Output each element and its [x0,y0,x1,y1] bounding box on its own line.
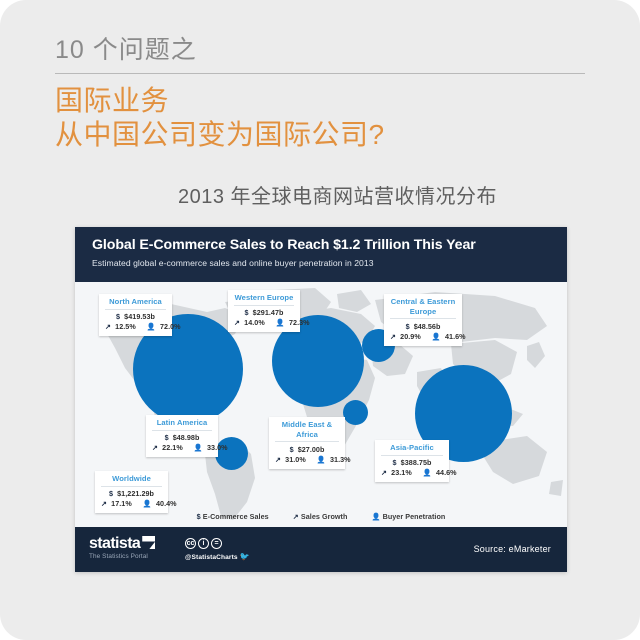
callout-sales-value: $48.98b [173,433,200,442]
callout-penetration-value: 33.0% [207,443,228,452]
slide-title: 国际业务 从中国公司变为国际公司? [55,84,385,152]
callout-growth-value: 31.0% [285,455,306,464]
world-bubble-map: North America $ $419.53b ↗ 12.5% 👤 72.0%… [75,282,567,527]
callout-sales-row: $ $27.00b [275,445,339,455]
callout-stats-row: ↗ 12.5% 👤 72.0% [105,322,166,332]
person-icon: 👤 [143,499,152,508]
dollar-icon: $ [116,312,120,321]
callout-sales-value: $388.75b [401,458,432,467]
legend-item-penetration: 👤 Buyer Penetration [372,512,446,521]
legend-label-growth: Sales Growth [301,512,348,521]
cc-icon: cc [185,538,196,549]
callout-middle-east-africa[interactable]: Middle East & Africa $ $27.00b ↗ 31.0% 👤… [269,417,345,469]
dollar-icon: $ [165,433,169,442]
bubble-latin-america [215,437,248,470]
infographic-header: Global E-Commerce Sales to Reach $1.2 Tr… [75,227,567,282]
callout-title: Latin America [152,418,212,428]
callout-north-america[interactable]: North America $ $419.53b ↗ 12.5% 👤 72.0% [99,294,172,336]
person-icon: 👤 [317,455,326,464]
callout-stats-row: ↗ 14.0% 👤 72.3% [234,318,294,328]
callout-sales-value: $419.53b [124,312,155,321]
statista-mark-icon [142,536,155,549]
callout-asia-pacific[interactable]: Asia-Pacific $ $388.75b ↗ 23.1% 👤 44.6% [375,440,449,482]
callout-title: Asia-Pacific [381,443,443,453]
person-icon: 👤 [276,318,285,327]
map-legend: $ E-Commerce Sales ↗ Sales Growth 👤 Buye… [75,512,567,521]
callout-divider [390,318,456,319]
callout-growth-value: 22.1% [162,443,183,452]
person-icon: 👤 [372,512,381,521]
callout-penetration-value: 31.3% [330,455,351,464]
title-divider [55,73,585,74]
slide-title-line-2: 从中国公司变为国际公司? [55,118,385,152]
callout-sales-value: $27.00b [298,445,325,454]
callout-stats-row: ↗ 17.1% 👤 40.4% [101,499,162,509]
callout-penetration-value: 41.6% [445,332,466,341]
growth-arrow-icon: ↗ [152,443,158,452]
dollar-icon: $ [109,489,113,498]
person-icon: 👤 [147,322,156,331]
person-icon: 👤 [194,443,203,452]
callout-growth-value: 23.1% [391,468,412,477]
growth-arrow-icon: ↗ [234,318,240,327]
callout-stats-row: ↗ 20.9% 👤 41.6% [390,332,456,342]
callout-sales-row: $ $419.53b [105,312,166,322]
statista-logo: statista The Statistics Portal [89,536,155,560]
callout-growth-value: 20.9% [400,332,421,341]
callout-growth-value: 17.1% [111,499,132,508]
callout-penetration-value: 40.4% [156,499,177,508]
callout-title: North America [105,297,166,307]
callout-sales-row: $ $48.56b [390,322,456,332]
callout-divider [381,455,443,456]
callout-penetration-value: 72.0% [160,322,181,331]
callout-stats-row: ↗ 31.0% 👤 31.3% [275,455,339,465]
dollar-icon: $ [406,322,410,331]
callout-title: Central & Eastern Europe [390,297,456,316]
brand-wordmark: statista [89,535,140,552]
cc-noderivs-icon: = [211,538,222,549]
infographic-subhead: Estimated global e-commerce sales and on… [92,258,550,268]
infographic-footer: statista The Statistics Portal cc i = @S… [75,527,567,572]
callout-sales-value: $1,221.29b [117,489,154,498]
callout-western-europe[interactable]: Western Europe $ $291.47b ↗ 14.0% 👤 72.3… [228,290,300,332]
callout-penetration-value: 72.3% [289,318,310,327]
callout-divider [105,309,166,310]
dollar-icon: $ [197,512,201,521]
twitter-handle-row[interactable]: @StatistaCharts🐦 [185,552,250,561]
slide-title-line-1: 国际业务 [55,85,169,116]
callout-sales-row: $ $1,221.29b [101,489,162,499]
growth-arrow-icon: ↗ [381,468,387,477]
person-icon: 👤 [432,332,441,341]
twitter-handle: @StatistaCharts [185,554,238,561]
callout-title: Middle East & Africa [275,420,339,439]
legend-item-growth: ↗ Sales Growth [293,512,350,521]
slide-subtitle: 2013 年全球电商网站营收情况分布 [0,180,640,209]
callout-divider [152,430,212,431]
callout-growth-value: 12.5% [115,322,136,331]
growth-arrow-icon: ↗ [293,512,299,521]
twitter-icon: 🐦 [240,552,250,561]
dollar-icon: $ [290,445,294,454]
callout-divider [275,441,339,442]
person-icon: 👤 [423,468,432,477]
callout-sales-row: $ $48.98b [152,433,212,443]
cc-badges: cc i = [185,538,250,549]
dollar-icon: $ [393,458,397,467]
source-label: Source: eMarketer [474,544,551,554]
growth-arrow-icon: ↗ [101,499,107,508]
callout-sales-row: $ $291.47b [234,308,294,318]
growth-arrow-icon: ↗ [390,332,396,341]
callout-growth-value: 14.0% [244,318,265,327]
brand-tagline: The Statistics Portal [89,553,155,560]
growth-arrow-icon: ↗ [275,455,281,464]
callout-latin-america[interactable]: Latin America $ $48.98b ↗ 22.1% 👤 33.0% [146,415,218,457]
callout-stats-row: ↗ 22.1% 👤 33.0% [152,443,212,453]
callout-title: Western Europe [234,293,294,303]
creative-commons-block: cc i = @StatistaCharts🐦 [185,538,250,561]
callout-sales-value: $48.56b [414,322,441,331]
legend-label-penetration: Buyer Penetration [383,512,446,521]
slide-kicker: 10 个问题之 [55,30,197,66]
bubble-middle-east-africa [343,400,368,425]
growth-arrow-icon: ↗ [105,322,111,331]
slide-canvas: 10 个问题之 国际业务 从中国公司变为国际公司? 2013 年全球电商网站营收… [0,0,640,640]
dollar-icon: $ [245,308,249,317]
infographic-card: Global E-Commerce Sales to Reach $1.2 Tr… [75,227,567,572]
infographic-headline: Global E-Commerce Sales to Reach $1.2 Tr… [92,236,550,255]
callout-worldwide[interactable]: Worldwide $ $1,221.29b ↗ 17.1% 👤 40.4% [95,471,168,513]
callout-divider [101,486,162,487]
callout-title: Worldwide [101,474,162,484]
callout-sales-value: $291.47b [253,308,284,317]
brand-wordmark-row: statista [89,536,155,552]
legend-item-sales: $ E-Commerce Sales [197,512,271,521]
callout-sales-row: $ $388.75b [381,458,443,468]
callout-penetration-value: 44.6% [436,468,457,477]
callout-stats-row: ↗ 23.1% 👤 44.6% [381,468,443,478]
cc-attribution-icon: i [198,538,209,549]
callout-central-eastern-europe[interactable]: Central & Eastern Europe $ $48.56b ↗ 20.… [384,294,462,346]
legend-label-sales: E-Commerce Sales [203,512,269,521]
callout-divider [234,305,294,306]
